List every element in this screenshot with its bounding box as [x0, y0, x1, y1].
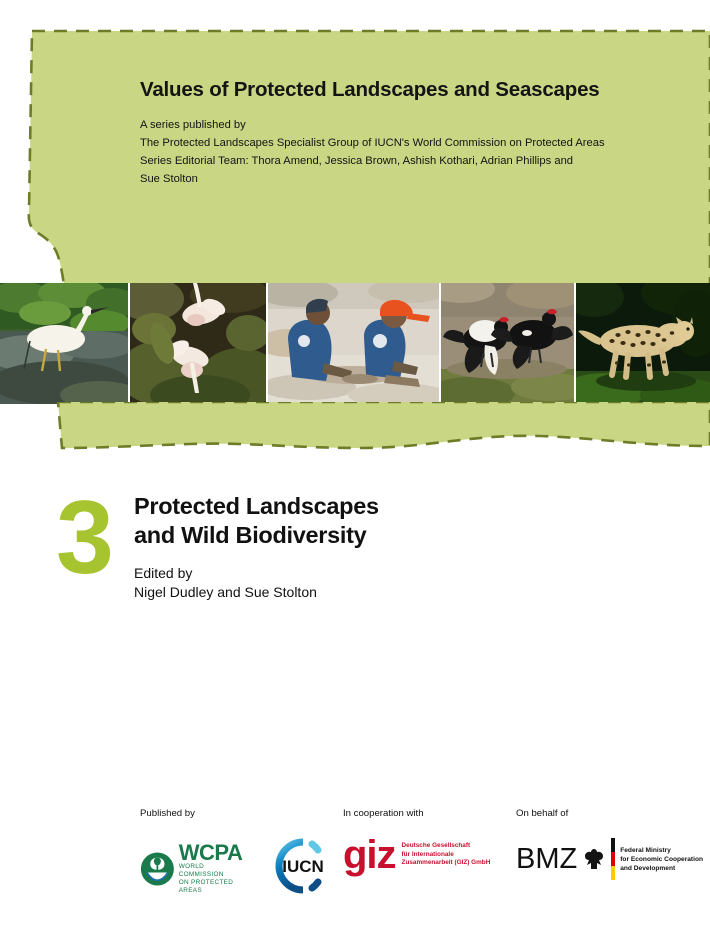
chapter-title-line-1: Protected Landscapes: [134, 492, 379, 521]
giz-logo[interactable]: giz Deutsche Gesellschaft für Internatio…: [343, 838, 490, 872]
giz-tagline-3: Zusammenarbeit (GIZ) GmbH: [402, 859, 491, 867]
series-line-3: Series Editorial Team: Thora Amend, Jess…: [140, 152, 660, 170]
bmz-tagline-1: Federal Ministry: [620, 846, 703, 855]
bmz-tagline-3: and Development: [620, 864, 703, 873]
edited-by-label: Edited by: [134, 564, 379, 583]
photo-egret-wetland: [0, 283, 128, 404]
chapter-title-text: Protected Landscapes and Wild Biodiversi…: [134, 488, 379, 602]
on-behalf-label: On behalf of: [516, 808, 568, 819]
top-green-banner: Values of Protected Landscapes and Seasc…: [0, 0, 710, 300]
chapter-title-line-2: and Wild Biodiversity: [134, 521, 379, 550]
iucn-ring-icon: IUCN: [272, 838, 334, 894]
bmz-wordmark: BMZ: [516, 844, 577, 874]
published-by-group: Published by WCPA WORLD COMMISSION ON PR…: [140, 808, 195, 819]
svg-text:IUCN: IUCN: [282, 857, 324, 876]
banner-text-block: Values of Protected Landscapes and Seasc…: [140, 78, 660, 188]
footer-logos: Published by WCPA WORLD COMMISSION ON PR…: [0, 808, 710, 918]
photo-black-grouse-lek: [441, 283, 574, 404]
bmz-logo[interactable]: BMZ Federal Ministry for Economic Cooper…: [516, 838, 703, 880]
wcpa-tagline-1: WORLD COMMISSION: [179, 863, 248, 879]
giz-wordmark: giz: [343, 838, 396, 872]
wcpa-logo[interactable]: WCPA WORLD COMMISSION ON PROTECTED AREAS: [140, 843, 248, 895]
giz-tagline-2: für Internationale: [402, 851, 491, 859]
bmz-tagline-2: for Economic Cooperation: [620, 855, 703, 864]
iucn-logo[interactable]: IUCN: [272, 838, 334, 899]
german-eagle-icon: [584, 847, 604, 871]
photo-leopard: [576, 283, 710, 404]
series-line-4: Sue Stolton: [140, 170, 660, 188]
lower-wavy-band: [0, 402, 710, 454]
wcpa-wordmark: WCPA: [179, 843, 248, 863]
editors-names: Nigel Dudley and Sue Stolton: [134, 583, 379, 602]
on-behalf-group: On behalf of BMZ Federal Ministry for Ec…: [516, 808, 568, 819]
chapter-number: 3: [56, 494, 134, 582]
published-by-logo-row: WCPA WORLD COMMISSION ON PROTECTED AREAS: [140, 838, 334, 899]
photo-field-researchers: [268, 283, 438, 404]
photo-strip: [0, 283, 710, 404]
chapter-title-block: 3 Protected Landscapes and Wild Biodiver…: [56, 488, 656, 602]
series-line-1: A series published by: [140, 116, 660, 134]
giz-tagline-1: Deutsche Gesellschaft: [402, 842, 491, 850]
series-line-2: The Protected Landscapes Specialist Grou…: [140, 134, 660, 152]
in-cooperation-group: In cooperation with giz Deutsche Gesells…: [343, 808, 424, 819]
in-cooperation-label: In cooperation with: [343, 808, 424, 819]
wcpa-tagline-2: ON PROTECTED AREAS: [179, 879, 248, 895]
wcpa-emblem-icon: [140, 849, 175, 889]
published-by-label: Published by: [140, 808, 195, 819]
wave-shape: [0, 402, 710, 454]
series-title: Values of Protected Landscapes and Seasc…: [140, 78, 660, 102]
photo-white-orchids: [130, 283, 266, 404]
